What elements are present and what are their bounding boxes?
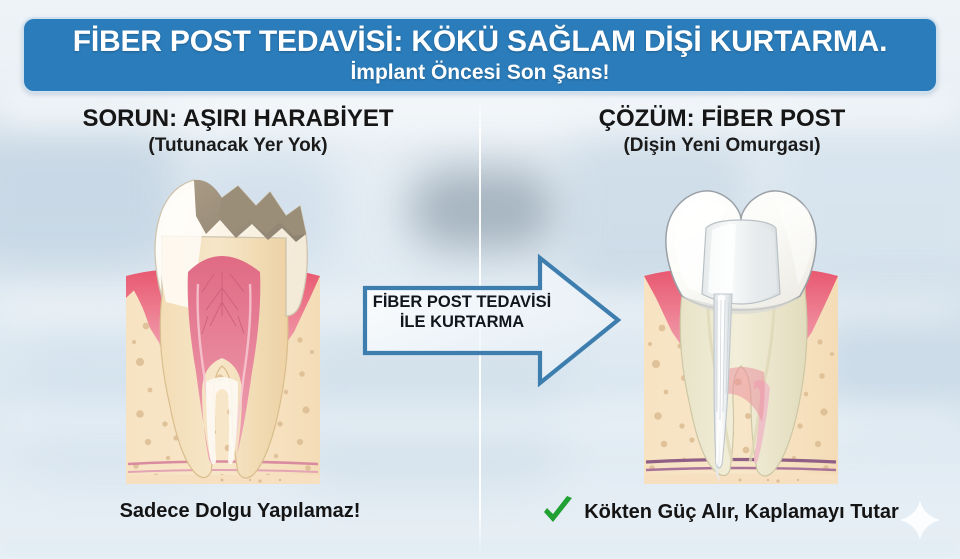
bg-blob-3 xyxy=(408,168,558,250)
left-column-heading: SORUN: AŞIRI HARABİYET (Tutunacak Yer Yo… xyxy=(8,106,468,157)
green-check-icon xyxy=(541,496,575,528)
arrow-label-line2: İLE KURTARMA xyxy=(372,313,552,333)
right-caption: Kökten Güç Alır, Kaplamayı Tutar xyxy=(584,501,899,524)
banner-title: FİBER POST TEDAVİSİ: KÖKÜ SAĞLAM DİŞİ KU… xyxy=(73,26,888,58)
right-column-title: ÇÖZÜM: FİBER POST xyxy=(492,106,952,133)
fiber-post-tooth-illustration xyxy=(628,176,858,488)
right-column-subtitle: (Dişin Yeni Omurgası) xyxy=(492,135,952,157)
banner-subtitle: İmplant Öncesi Son Şans! xyxy=(350,61,609,84)
right-column-heading: ÇÖZÜM: FİBER POST (Dişin Yeni Omurgası) xyxy=(492,106,952,157)
arrow-label-line1: FİBER POST TEDAVİSİ xyxy=(372,293,552,313)
left-column-title: SORUN: AŞIRI HARABİYET xyxy=(8,106,468,133)
left-column-subtitle: (Tutunacak Yer Yok) xyxy=(8,135,468,157)
right-caption-group: Kökten Güç Alır, Kaplamayı Tutar xyxy=(480,496,960,528)
arrow-label: FİBER POST TEDAVİSİ İLE KURTARMA xyxy=(372,293,552,333)
header-banner: FİBER POST TEDAVİSİ: KÖKÜ SAĞLAM DİŞİ KU… xyxy=(22,17,938,93)
left-caption: Sadece Dolgu Yapılamaz! xyxy=(0,500,480,523)
sparkle-icon xyxy=(898,498,942,542)
decayed-tooth-illustration xyxy=(110,176,340,488)
infographic-canvas: FİBER POST TEDAVİSİ: KÖKÜ SAĞLAM DİŞİ KU… xyxy=(0,0,960,559)
